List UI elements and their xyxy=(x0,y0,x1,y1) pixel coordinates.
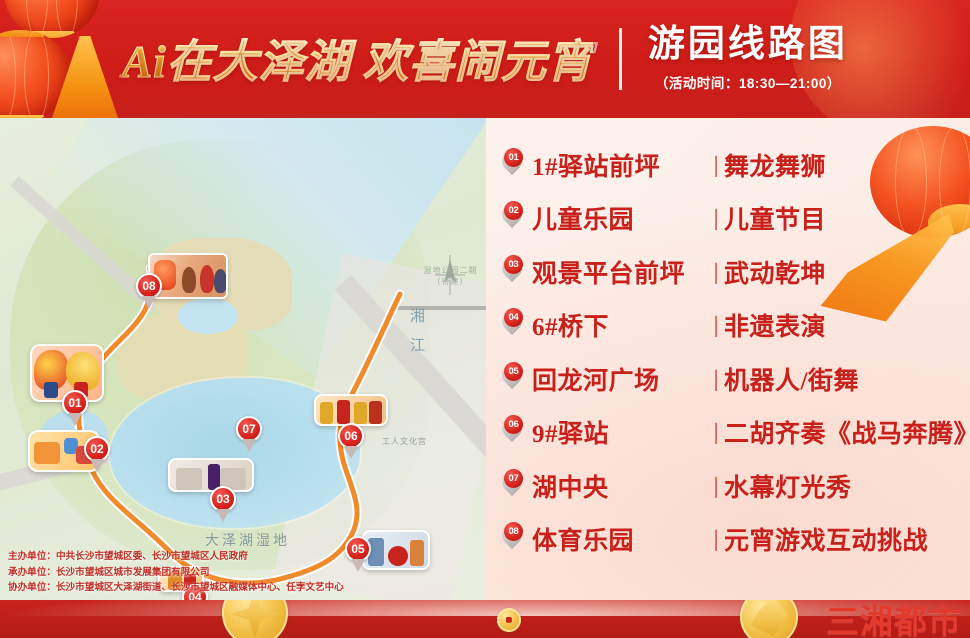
map-marker-tail xyxy=(216,509,230,522)
legend-separator: | xyxy=(708,366,724,392)
map-marker[interactable]: 01 xyxy=(62,390,88,424)
map-marker[interactable]: 07 xyxy=(236,416,262,450)
map-marker-tail xyxy=(90,459,104,472)
legend-item[interactable]: 03 观景平台前坪 | 武动乾坤 xyxy=(500,245,970,299)
sticker-erhu-ensemble xyxy=(314,394,388,426)
legend-item-activity: 机器人/街舞 xyxy=(724,361,859,397)
legend-item-activity: 非遗表演 xyxy=(724,307,826,343)
poster-body: 湘 江 大泽湖湿地 工人文化宫 湿地公园二期 （待建） xyxy=(0,118,970,600)
map-marker[interactable]: 02 xyxy=(84,436,110,470)
legend-item-number: 05 xyxy=(504,362,523,381)
location-pin-icon: 08 xyxy=(500,523,524,555)
legend-item[interactable]: 07 湖中央 | 水幕灯光秀 xyxy=(500,459,970,513)
credits-line-organizer: 承办单位：长沙市望城区城市发展集团有限公司 xyxy=(8,565,344,581)
credits-line-host: 主办单位：中共长沙市望城区委、长沙市望城区人民政府 xyxy=(8,549,344,565)
legend-separator: | xyxy=(708,259,724,285)
legend-item-activity: 武动乾坤 xyxy=(724,254,826,290)
location-pin-icon: 03 xyxy=(500,256,524,288)
footer-wave-decoration xyxy=(0,600,970,616)
publisher-brand: 三湘都市 xyxy=(826,607,962,638)
map-marker-tail xyxy=(142,296,156,309)
legend-item-place: 1#驿站前坪 xyxy=(532,147,708,183)
legend-item-number: 01 xyxy=(504,148,523,167)
gold-coin-icon xyxy=(497,608,521,632)
title-right-group: 游园线路图 （活动时间：18:30—21:00） xyxy=(648,26,848,92)
legend-item-place: 回龙河广场 xyxy=(532,361,708,397)
legend-item-number: 03 xyxy=(504,255,523,274)
poster-root: Ai在大泽湖 欢喜闹元宵 游园线路图 （活动时间：18:30—21:00） xyxy=(0,0,970,638)
legend-item-place: 观景平台前坪 xyxy=(532,254,708,290)
poster-title-sub: 游园线路图 xyxy=(648,26,848,65)
route-legend-list: 01 1#驿站前坪 | 舞龙舞狮 02 儿童乐园 | 儿童节目 03 xyxy=(500,132,970,592)
legend-item-activity: 舞龙舞狮 xyxy=(724,147,826,183)
map-marker-tail xyxy=(344,446,358,459)
location-pin-icon: 02 xyxy=(500,202,524,234)
legend-item-place: 9#驿站 xyxy=(532,414,708,450)
legend-item-activity: 水幕灯光秀 xyxy=(724,468,852,504)
park-route-map[interactable]: 湘 江 大泽湖湿地 工人文化宫 湿地公园二期 （待建） xyxy=(0,118,486,600)
map-marker[interactable]: 03 xyxy=(210,486,236,520)
legend-item-activity: 儿童节目 xyxy=(724,200,826,236)
location-pin-icon: 07 xyxy=(500,470,524,502)
location-pin-icon: 06 xyxy=(500,416,524,448)
legend-item-place: 体育乐园 xyxy=(532,521,708,557)
map-marker[interactable]: 06 xyxy=(338,423,364,457)
poster-footer: 三湘都市 xyxy=(0,600,970,638)
map-marker[interactable]: 08 xyxy=(136,273,162,307)
legend-item[interactable]: 01 1#驿站前坪 | 舞龙舞狮 xyxy=(500,138,970,192)
legend-item-activity: 二胡齐奏《战马奔腾》 xyxy=(724,414,970,450)
title-divider xyxy=(619,28,622,90)
sticker-robot-street-dance xyxy=(362,530,430,570)
poster-title-main: Ai在大泽湖 欢喜闹元宵 xyxy=(122,25,593,94)
legend-item[interactable]: 04 6#桥下 | 非遗表演 xyxy=(500,299,970,353)
gold-coin-icon xyxy=(740,600,798,638)
map-marker[interactable]: 05 xyxy=(345,536,371,570)
organizer-credits: 主办单位：中共长沙市望城区委、长沙市望城区人民政府 承办单位：长沙市望城区城市发… xyxy=(8,549,344,596)
event-time-note: （活动时间：18:30—21:00） xyxy=(648,72,848,92)
legend-item-activity: 元宵游戏互动挑战 xyxy=(724,521,928,557)
location-pin-icon: 05 xyxy=(500,363,524,395)
legend-item-place: 儿童乐园 xyxy=(532,200,708,236)
legend-separator: | xyxy=(708,419,724,445)
legend-separator: | xyxy=(708,473,724,499)
legend-item-place: 6#桥下 xyxy=(532,307,708,343)
legend-item-number: 07 xyxy=(504,469,523,488)
location-pin-icon: 04 xyxy=(500,309,524,341)
legend-item[interactable]: 06 9#驿站 | 二胡齐奏《战马奔腾》 xyxy=(500,406,970,460)
legend-item[interactable]: 02 儿童乐园 | 儿童节目 xyxy=(500,192,970,246)
legend-separator: | xyxy=(708,312,724,338)
legend-separator: | xyxy=(708,152,724,178)
legend-item[interactable]: 08 体育乐园 | 元宵游戏互动挑战 xyxy=(500,513,970,567)
credits-line-coorganizer: 协办单位：长沙市望城区大泽湖街道、长沙市望城区融媒体中心、任孛文艺中心 xyxy=(8,580,344,596)
legend-item[interactable]: 05 回龙河广场 | 机器人/街舞 xyxy=(500,352,970,406)
legend-separator: | xyxy=(708,205,724,231)
map-marker-tail xyxy=(68,413,82,426)
poster-header: Ai在大泽湖 欢喜闹元宵 游园线路图 （活动时间：18:30—21:00） xyxy=(0,0,970,118)
legend-item-place: 湖中央 xyxy=(532,468,708,504)
map-marker-tail xyxy=(351,559,365,572)
gold-coin-icon xyxy=(222,600,288,638)
legend-separator: | xyxy=(708,526,724,552)
location-pin-icon: 01 xyxy=(500,149,524,181)
map-marker-tail xyxy=(242,439,256,452)
